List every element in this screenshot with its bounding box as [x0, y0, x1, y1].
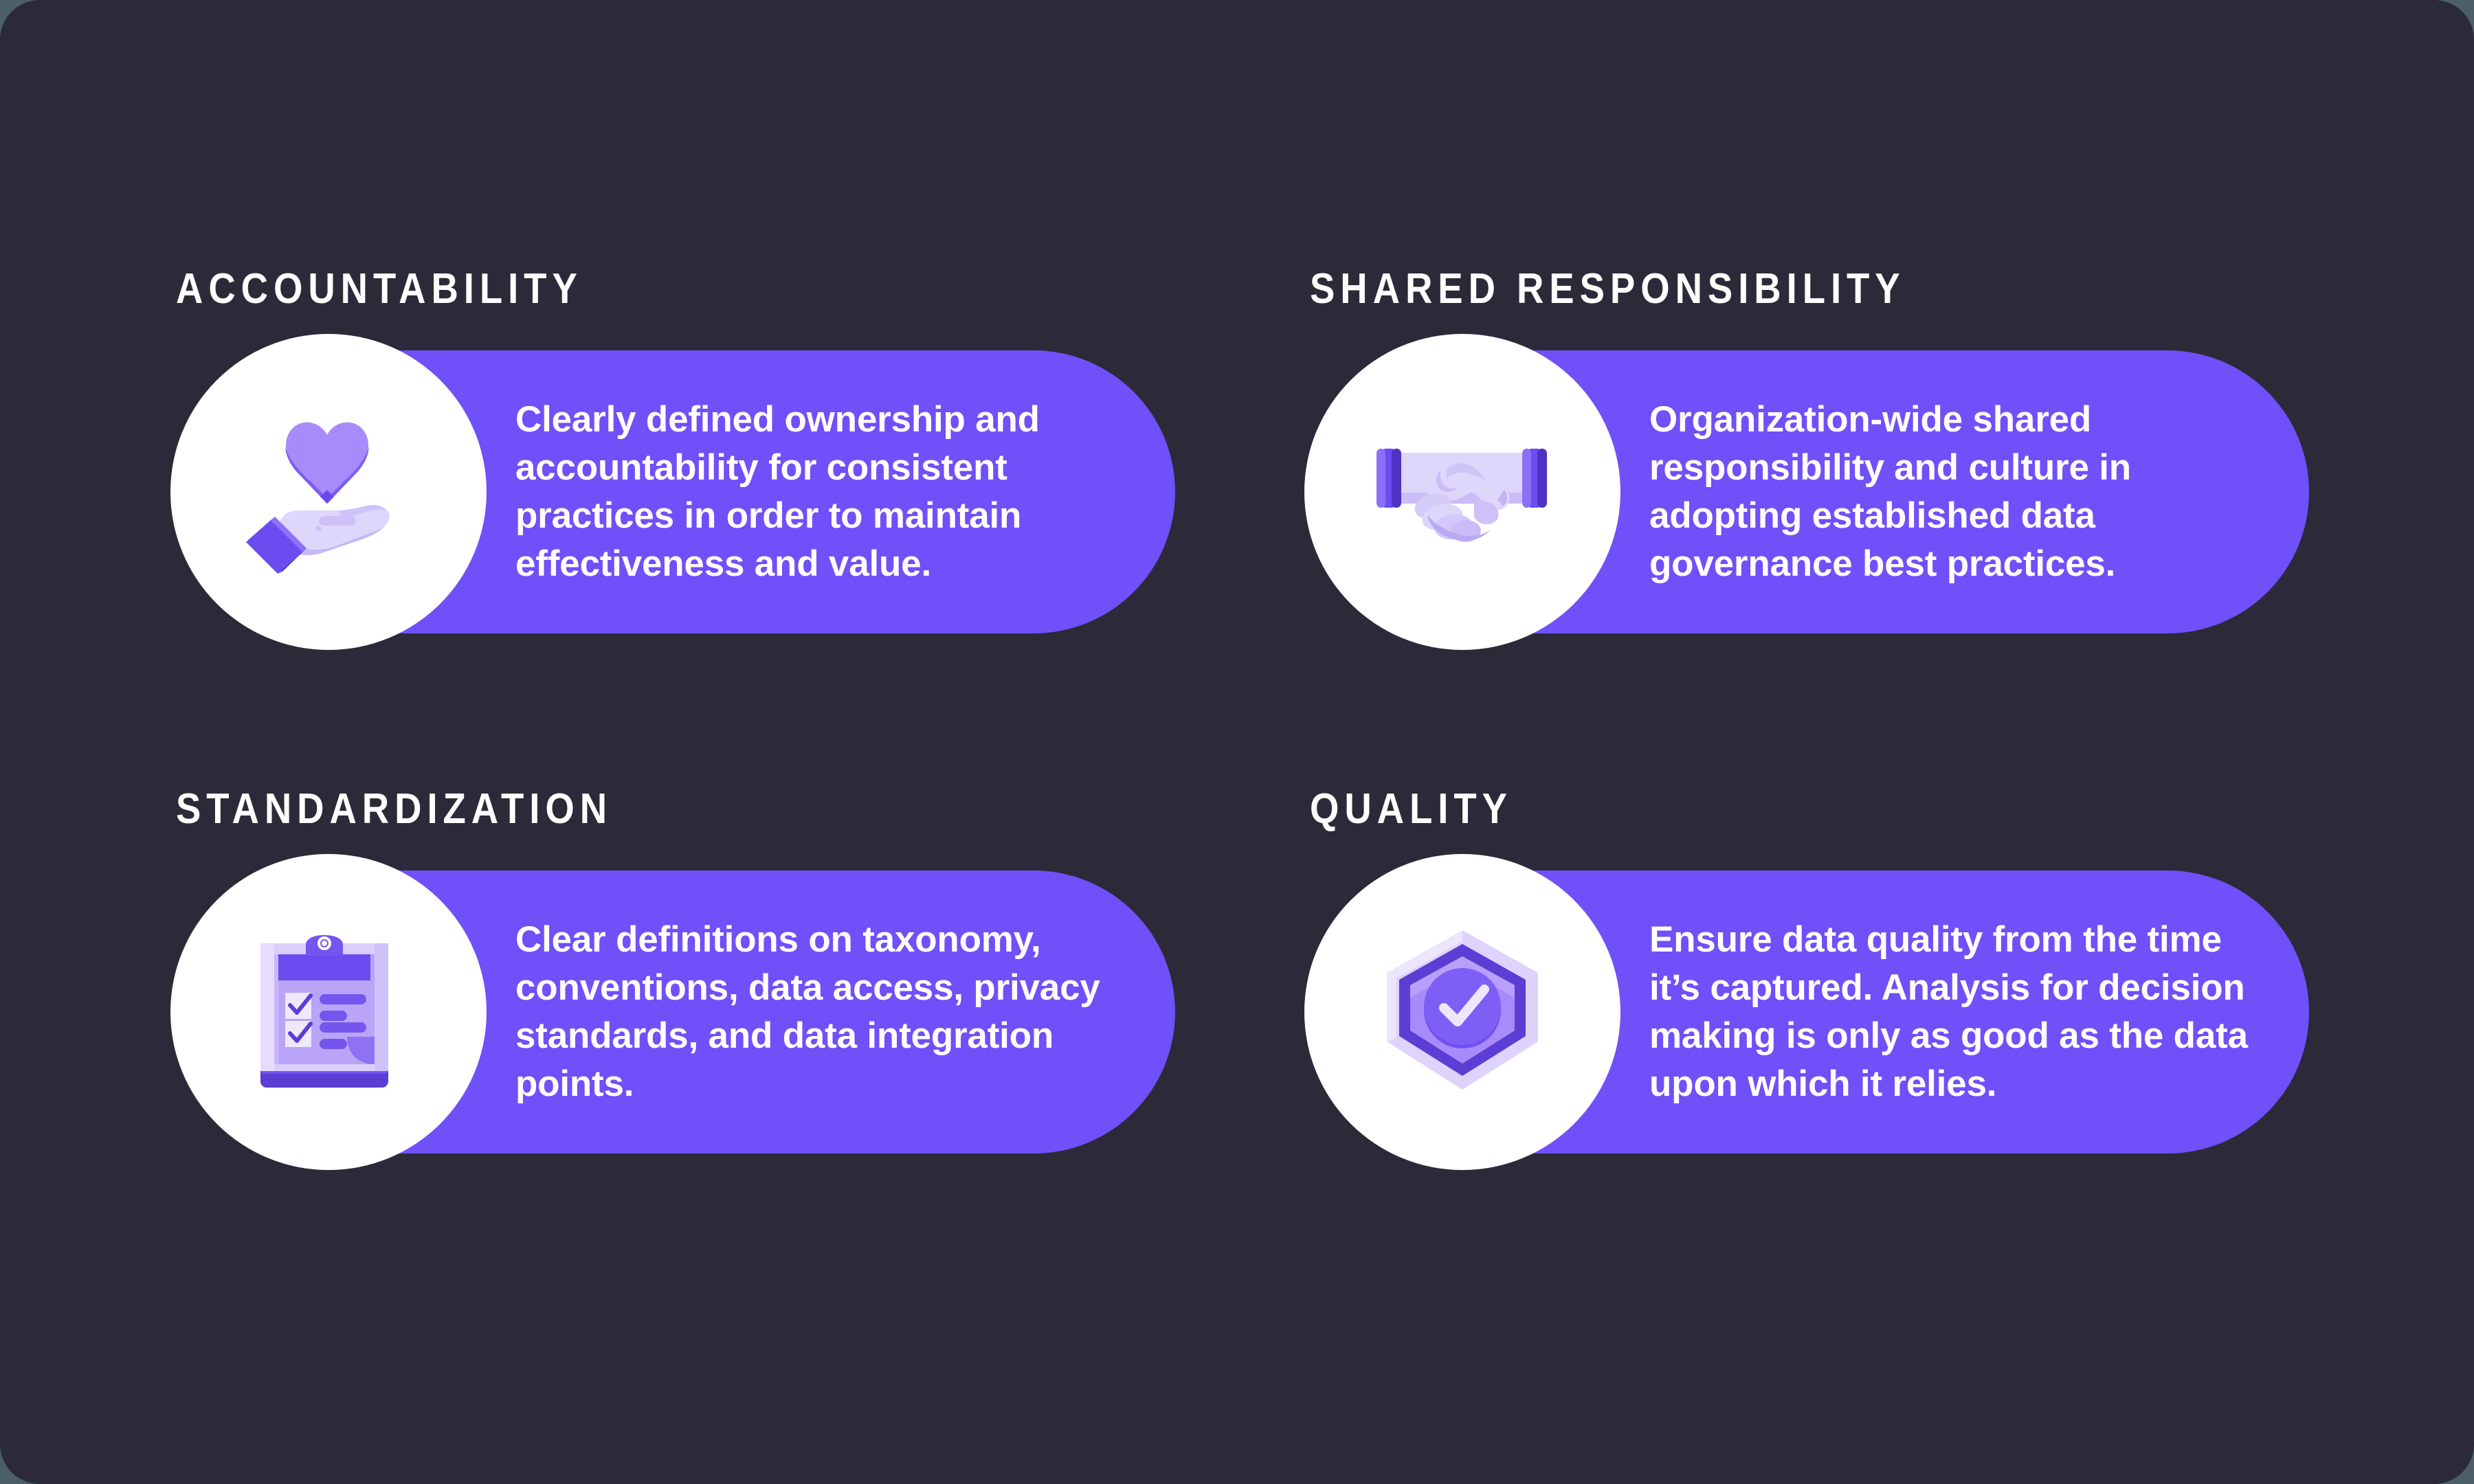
card-body-container: Organization-wide shared responsibility …	[1649, 350, 2192, 633]
card-heading: ACCOUNTABILITY	[176, 268, 1056, 311]
clipboard-checklist-icon	[256, 930, 401, 1094]
card-body-text: Organization-wide shared responsibility …	[1649, 396, 2192, 588]
shield-check-icon	[1380, 926, 1545, 1098]
card-body-text: Ensure data quality from the time it’s c…	[1649, 916, 2254, 1108]
principle-card-quality: QUALITY Ensure data quality from the tim…	[1306, 788, 2309, 1154]
icon-circle	[1304, 854, 1620, 1170]
card-pill: Clearly defined ownership and accountabi…	[172, 350, 1175, 633]
card-heading: STANDARDIZATION	[176, 788, 1056, 831]
principles-grid: ACCOUNTABILITY Clearly defined ownership…	[172, 268, 2309, 1154]
card-heading: QUALITY	[1310, 788, 2189, 831]
handshake-icon	[1370, 427, 1555, 557]
infographic-panel: ACCOUNTABILITY Clearly defined ownership…	[0, 0, 2474, 1484]
card-body-text: Clearly defined ownership and accountabi…	[515, 396, 1065, 588]
principle-card-shared-responsibility: SHARED RESPONSIBILITY Organization-wide …	[1306, 268, 2309, 633]
icon-circle	[170, 334, 487, 650]
card-body-text: Clear definitions on taxonomy, conventio…	[515, 916, 1120, 1108]
card-body-container: Clearly defined ownership and accountabi…	[515, 350, 1065, 633]
icon-circle	[170, 854, 487, 1170]
card-pill: Ensure data quality from the time it’s c…	[1306, 870, 2309, 1154]
card-heading: SHARED RESPONSIBILITY	[1310, 268, 2189, 311]
heart-in-hand-icon	[239, 406, 418, 578]
card-body-container: Ensure data quality from the time it’s c…	[1649, 870, 2254, 1154]
principle-card-accountability: ACCOUNTABILITY Clearly defined ownership…	[172, 268, 1175, 633]
icon-circle	[1304, 334, 1620, 650]
principle-card-standardization: STANDARDIZATION Clear definitions on tax…	[172, 788, 1175, 1154]
card-pill: Clear definitions on taxonomy, conventio…	[172, 870, 1175, 1154]
card-pill: Organization-wide shared responsibility …	[1306, 350, 2309, 633]
card-body-container: Clear definitions on taxonomy, conventio…	[515, 870, 1120, 1154]
